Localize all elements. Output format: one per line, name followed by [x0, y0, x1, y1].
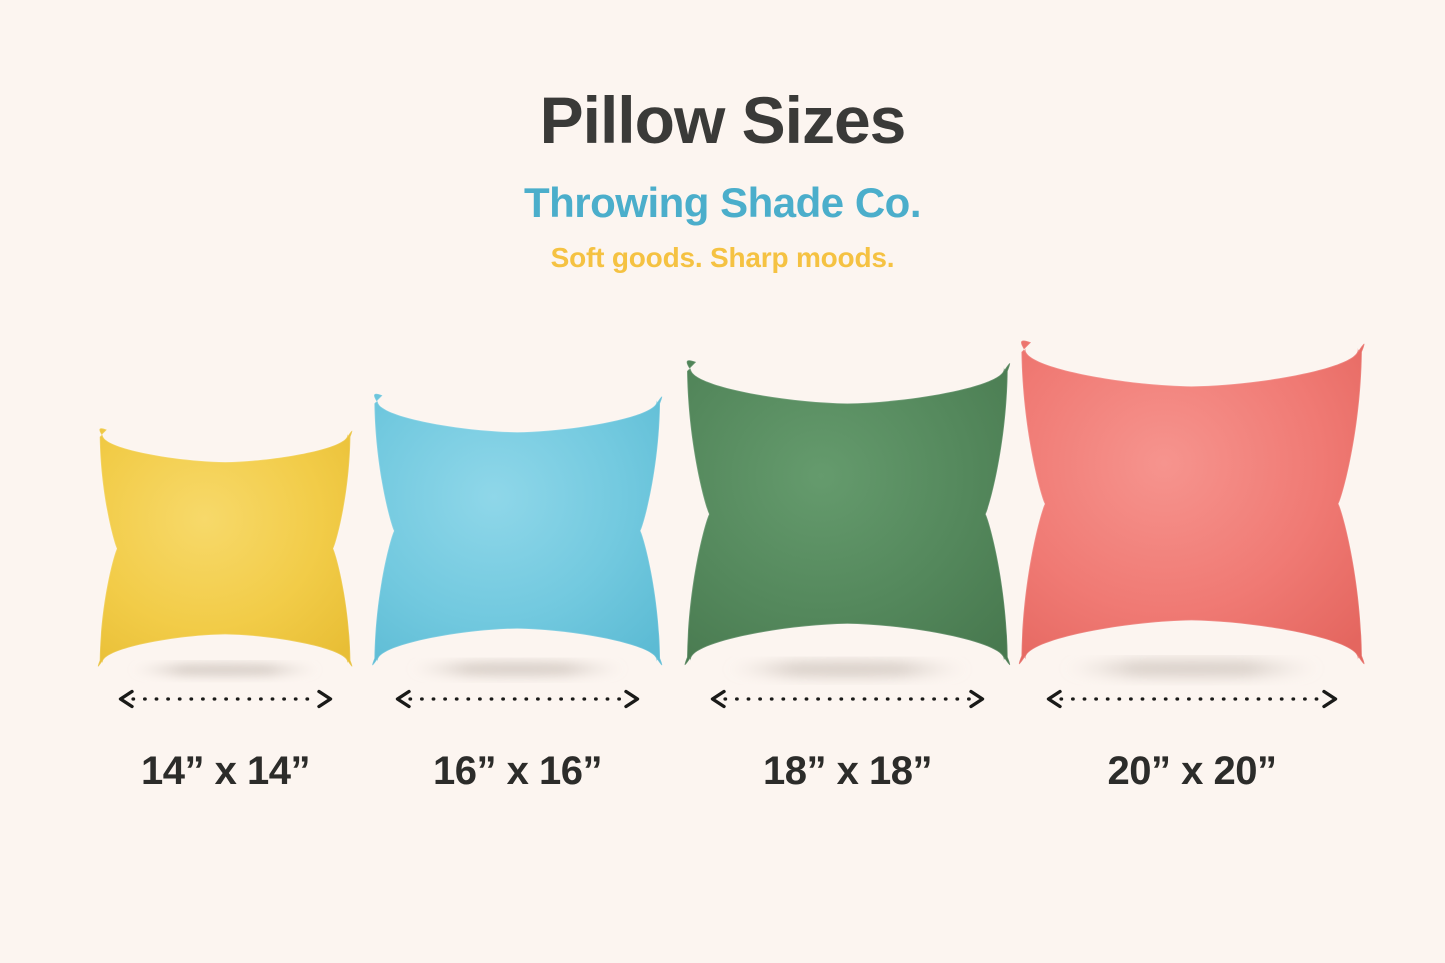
arrowhead-left: [398, 692, 410, 707]
arrowhead-right: [1324, 692, 1336, 707]
dimension-arrow: [118, 688, 333, 710]
pillow-size-label: 14” x 14”: [118, 749, 333, 794]
arrowhead-left: [1049, 692, 1061, 707]
dimension-arrow: [1046, 688, 1338, 710]
arrowhead-right: [319, 692, 331, 707]
header: Pillow Sizes Throwing Shade Co. Soft goo…: [0, 0, 1445, 273]
pillow-body: [98, 428, 352, 666]
pillow-body: [373, 394, 663, 666]
pillow-size-label: 16” x 16”: [395, 749, 640, 794]
arrowhead-right: [971, 692, 983, 707]
pillow-shadow: [1064, 660, 1321, 678]
dimension-arrow: [710, 688, 985, 710]
pillow-graphic: [369, 390, 665, 672]
page-title: Pillow Sizes: [0, 86, 1445, 155]
pillow-size-label: 18” x 18”: [710, 749, 985, 794]
brand-tagline: Soft goods. Sharp moods.: [0, 243, 1445, 272]
pillow-size-comparison: 14” x 14”: [0, 370, 1445, 850]
pillow-item[interactable]: 18” x 18”: [710, 370, 985, 850]
pillow-item[interactable]: 16” x 16”: [395, 370, 640, 850]
arrowhead-left: [713, 692, 725, 707]
pillow-body: [1019, 341, 1365, 665]
pillow-shadow: [410, 662, 626, 677]
pillow-graphic: [95, 425, 355, 672]
pillow-graphic: [681, 356, 1014, 672]
arrowhead-left: [121, 692, 133, 707]
pillow-size-label: 20” x 20”: [1046, 749, 1338, 794]
arrowhead-right: [626, 692, 638, 707]
pillow-item[interactable]: 14” x 14”: [118, 370, 333, 850]
pillow-graphic: [1015, 336, 1368, 672]
pillow-item[interactable]: 20” x 20”: [1046, 370, 1338, 850]
pillow-shadow: [131, 663, 320, 676]
brand-name: Throwing Shade Co.: [0, 181, 1445, 225]
dimension-arrow: [395, 688, 640, 710]
pillow-body: [685, 360, 1010, 665]
pillow-shadow: [727, 661, 969, 678]
